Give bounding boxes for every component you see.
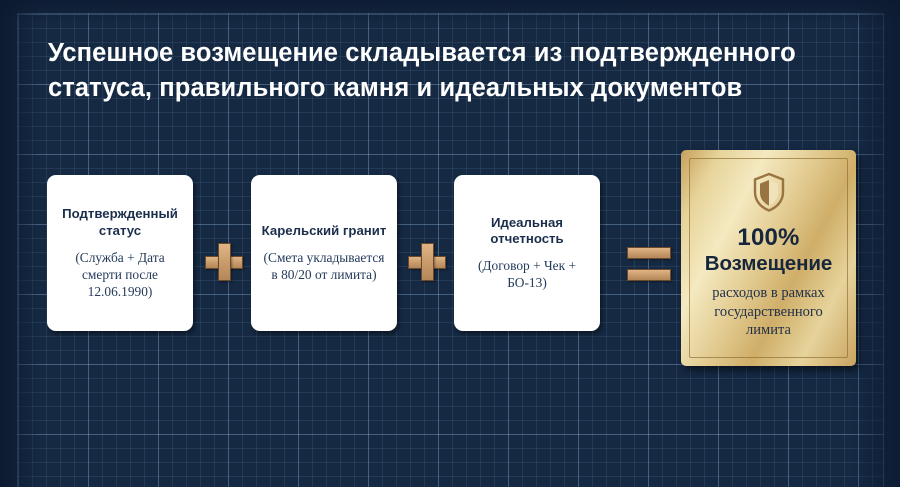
card-subtitle: (Служба + Дата смерти после 12.06.1990) (56, 249, 184, 300)
card-title: Карельский гранит (262, 223, 387, 240)
page-title: Успешное возмещение складывается из подт… (48, 36, 848, 106)
plus-vertical-bar (421, 243, 434, 281)
equals-top-bar (627, 247, 671, 259)
result-card-full-reimbursement: 100% Возмещение расходов в рамках госуда… (681, 150, 856, 366)
plus-vertical-bar (218, 243, 231, 281)
equals-icon (627, 247, 671, 281)
card-subtitle: (Договор + Чек + БО-13) (463, 257, 591, 291)
result-card-inner-border: 100% Возмещение расходов в рамках госуда… (689, 158, 848, 358)
formula-row: Подтвержденный статус (Служба + Дата сме… (0, 145, 900, 375)
slide-canvas: Успешное возмещение складывается из подт… (0, 0, 900, 487)
result-subtitle: расходов в рамках государственного лимит… (690, 284, 847, 339)
card-subtitle: (Смета укладывается в 80/20 от лимита) (260, 249, 388, 283)
result-word: Возмещение (705, 253, 832, 276)
result-percent: 100% (737, 225, 799, 251)
formula-card-confirmed-status: Подтвержденный статус (Служба + Дата сме… (47, 175, 193, 331)
plus-icon (408, 243, 446, 281)
formula-card-ideal-reporting: Идеальная отчетность (Договор + Чек + БО… (454, 175, 600, 331)
equals-bottom-bar (627, 269, 671, 281)
formula-card-karelian-granite: Карельский гранит (Смета укладывается в … (251, 175, 397, 331)
plus-icon (205, 243, 243, 281)
shield-icon (752, 172, 786, 212)
card-title: Подтвержденный статус (56, 206, 184, 240)
card-title: Идеальная отчетность (463, 215, 591, 249)
